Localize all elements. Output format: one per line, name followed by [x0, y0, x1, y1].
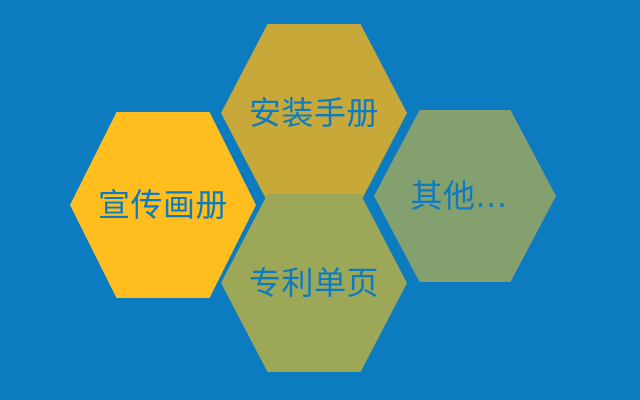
hexagon-tile-patent-sheet[interactable]: 专利单页 [221, 194, 407, 372]
hexagon-label-install-manual: 安装手册 [249, 97, 379, 129]
hexagon-tile-other[interactable]: 其他... [374, 110, 556, 282]
hexagon-cluster: 宣传画册 安装手册 专利单页 其他... [0, 0, 640, 400]
hexagon-diagram-canvas: 宣传画册 安装手册 专利单页 其他... [0, 0, 640, 400]
hexagon-tile-install-manual[interactable]: 安装手册 [221, 24, 407, 202]
hexagon-label-patent-sheet: 专利单页 [249, 267, 379, 299]
hexagon-label-brochure: 宣传画册 [98, 189, 228, 221]
hexagon-label-other: 其他... [410, 180, 507, 212]
